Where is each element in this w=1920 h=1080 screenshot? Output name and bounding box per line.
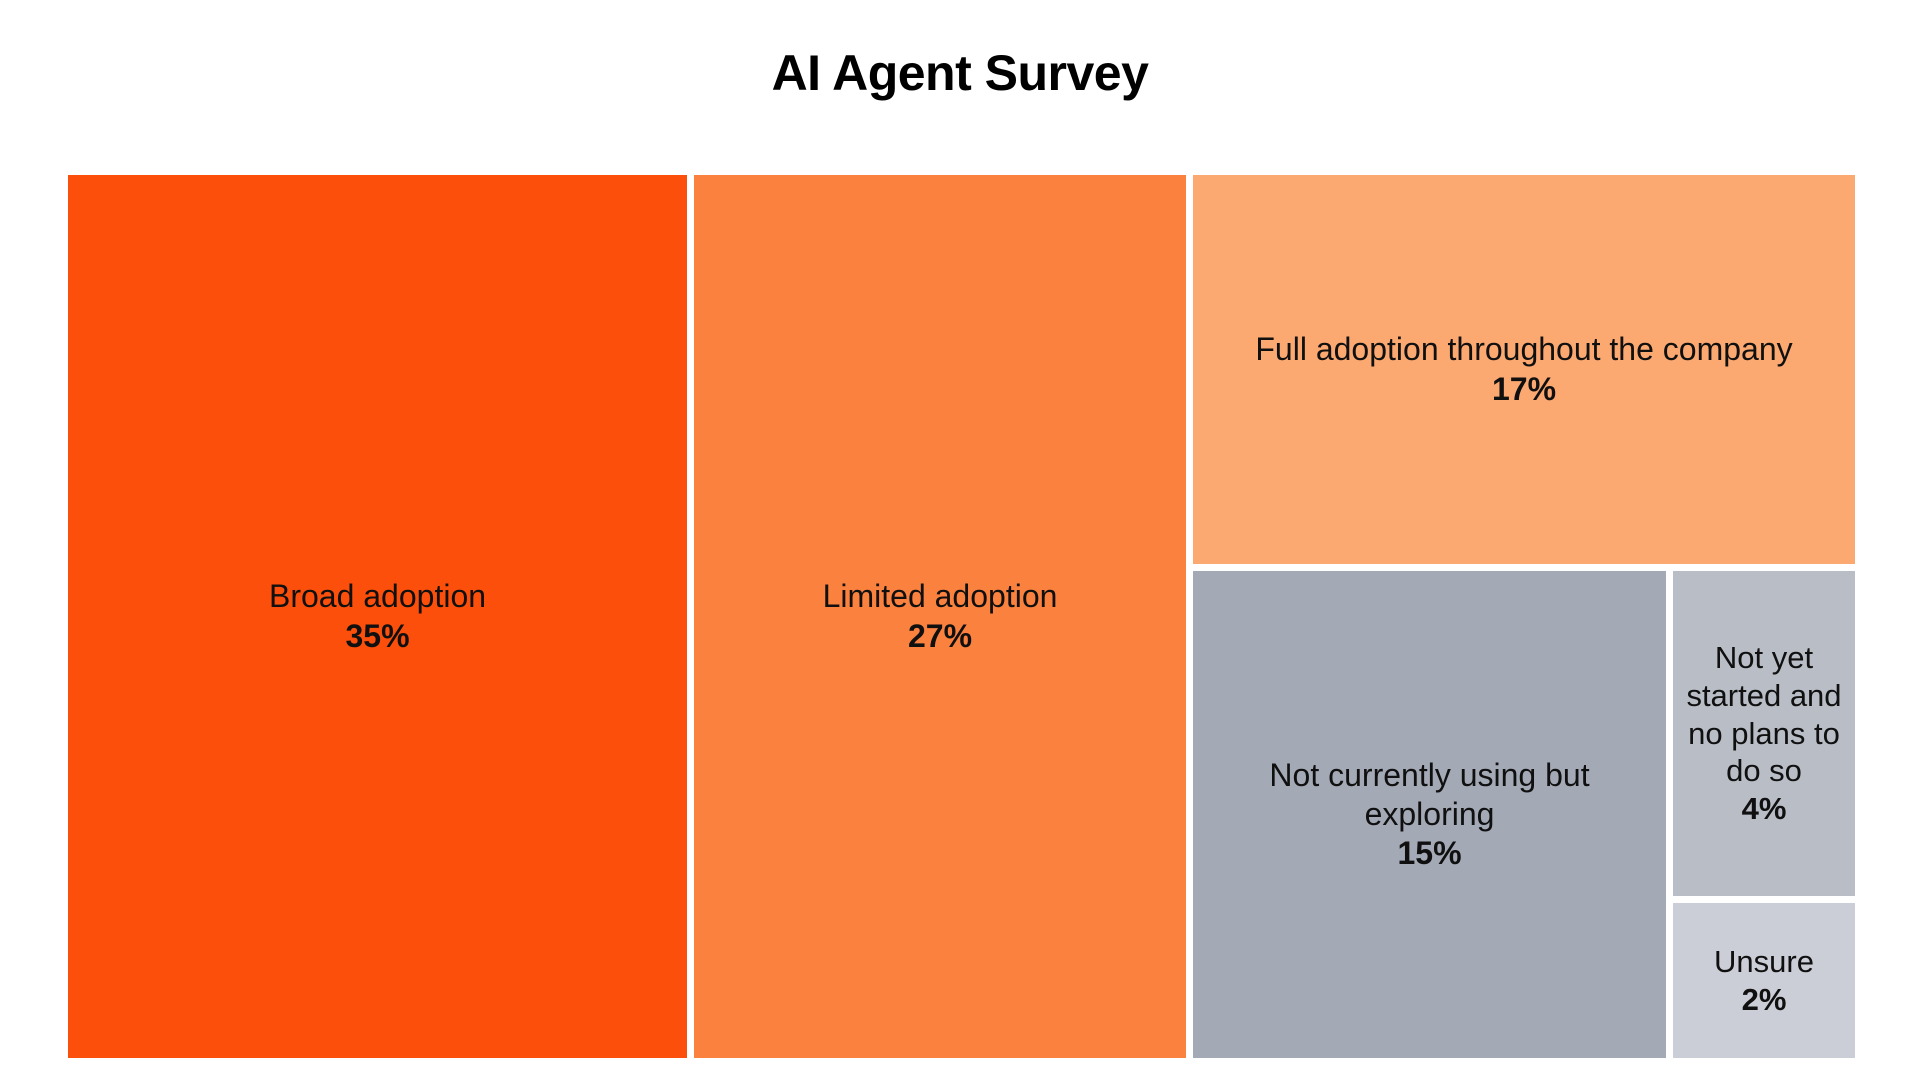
treemap-cell-content: Broad adoption 35%: [68, 577, 687, 655]
treemap-cell-content: Not currently using but exploring 15%: [1193, 756, 1666, 873]
treemap-cell-content: Not yet started and no plans to do so 4%: [1673, 639, 1855, 828]
treemap-cell-value: 35%: [76, 617, 679, 656]
treemap-cell-content: Unsure 2%: [1673, 943, 1855, 1019]
treemap-cell-content: Full adoption throughout the company 17%: [1193, 330, 1855, 408]
chart-page: AI Agent Survey Broad adoption 35% Limit…: [0, 0, 1920, 1080]
treemap-cell-value: 15%: [1201, 834, 1658, 873]
treemap-chart: Broad adoption 35% Limited adoption 27% …: [68, 175, 1855, 1058]
treemap-cell-value: 2%: [1677, 981, 1851, 1019]
treemap-cell-label: Unsure: [1677, 943, 1851, 981]
treemap-cell-limited-adoption[interactable]: Limited adoption 27%: [694, 175, 1186, 1058]
treemap-cell-label: Not currently using but exploring: [1201, 756, 1658, 834]
treemap-cell-exploring[interactable]: Not currently using but exploring 15%: [1193, 571, 1666, 1058]
treemap-cell-value: 27%: [702, 617, 1178, 656]
treemap-cell-label: Not yet started and no plans to do so: [1677, 639, 1851, 790]
treemap-cell-label: Broad adoption: [76, 577, 679, 616]
page-title: AI Agent Survey: [0, 46, 1920, 101]
treemap-cell-value: 4%: [1677, 790, 1851, 828]
treemap-cell-not-started[interactable]: Not yet started and no plans to do so 4%: [1673, 571, 1855, 896]
treemap-cell-value: 17%: [1201, 370, 1847, 409]
treemap-cell-label: Full adoption throughout the company: [1201, 330, 1847, 369]
treemap-cell-full-adoption[interactable]: Full adoption throughout the company 17%: [1193, 175, 1855, 564]
treemap-cell-content: Limited adoption 27%: [694, 577, 1186, 655]
treemap-cell-unsure[interactable]: Unsure 2%: [1673, 903, 1855, 1058]
treemap-cell-label: Limited adoption: [702, 577, 1178, 616]
treemap-cell-broad-adoption[interactable]: Broad adoption 35%: [68, 175, 687, 1058]
